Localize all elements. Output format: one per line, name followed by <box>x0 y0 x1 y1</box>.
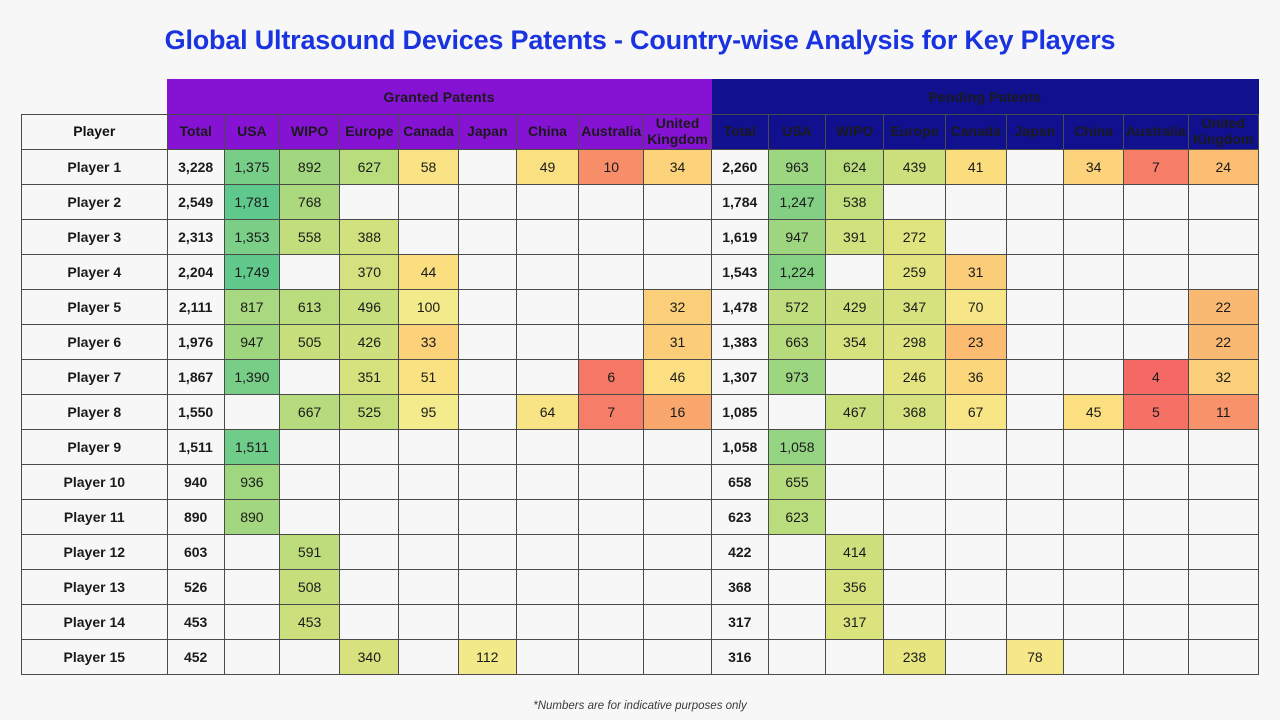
column-header-pending-usa: USA <box>768 115 825 150</box>
cell-pending-europe <box>884 570 945 605</box>
cell-granted-australia: 6 <box>579 360 644 395</box>
cell-granted-canada <box>399 640 458 675</box>
cell-pending-japan <box>1006 570 1063 605</box>
cell-granted-europe <box>340 465 399 500</box>
cell-pending-australia <box>1124 465 1188 500</box>
cell-granted-china <box>516 290 578 325</box>
cell-granted-china <box>516 255 578 290</box>
cell-pending-wipo: 317 <box>826 605 884 640</box>
table-row: Player 10940936658655 <box>22 465 1259 500</box>
cell-granted-australia <box>579 325 644 360</box>
cell-granted-china <box>516 605 578 640</box>
cell-granted-total: 1,976 <box>167 325 224 360</box>
cell-granted-europe: 388 <box>340 220 399 255</box>
cell-granted-japan <box>458 465 516 500</box>
cell-pending-china <box>1064 220 1124 255</box>
row-label-player: Player 3 <box>22 220 168 255</box>
cell-granted-canada <box>399 570 458 605</box>
cell-pending-wipo: 391 <box>826 220 884 255</box>
cell-pending-china <box>1064 640 1124 675</box>
cell-pending-wipo <box>826 500 884 535</box>
cell-granted-usa <box>224 535 279 570</box>
cell-pending-europe: 238 <box>884 640 945 675</box>
cell-granted-canada: 100 <box>399 290 458 325</box>
row-label-player: Player 4 <box>22 255 168 290</box>
cell-pending-usa: 947 <box>768 220 825 255</box>
table-row: Player 1545234011231623878 <box>22 640 1259 675</box>
cell-pending-china <box>1064 465 1124 500</box>
cell-granted-united-kingdom: 32 <box>644 290 711 325</box>
cell-pending-europe: 259 <box>884 255 945 290</box>
cell-granted-united-kingdom <box>644 500 711 535</box>
cell-pending-australia <box>1124 640 1188 675</box>
table-row: Player 22,5491,7817681,7841,247538 <box>22 185 1259 220</box>
cell-pending-japan <box>1006 430 1063 465</box>
cell-granted-total: 2,204 <box>167 255 224 290</box>
cell-granted-canada <box>399 535 458 570</box>
cell-granted-australia <box>579 255 644 290</box>
cell-pending-europe: 439 <box>884 150 945 185</box>
column-header-granted-europe: Europe <box>340 115 399 150</box>
cell-granted-australia <box>579 220 644 255</box>
cell-granted-wipo: 667 <box>279 395 339 430</box>
cell-pending-wipo: 414 <box>826 535 884 570</box>
cell-granted-japan <box>458 395 516 430</box>
cell-pending-total: 422 <box>711 535 768 570</box>
cell-granted-japan <box>458 570 516 605</box>
row-label-player: Player 15 <box>22 640 168 675</box>
cell-granted-australia <box>579 465 644 500</box>
cell-granted-wipo <box>279 465 339 500</box>
cell-granted-usa: 817 <box>224 290 279 325</box>
cell-granted-total: 1,867 <box>167 360 224 395</box>
table-row: Player 11890890623623 <box>22 500 1259 535</box>
cell-pending-canada: 23 <box>945 325 1006 360</box>
cell-granted-china <box>516 640 578 675</box>
cell-pending-japan <box>1006 360 1063 395</box>
cell-pending-china <box>1064 290 1124 325</box>
cell-pending-wipo: 538 <box>826 185 884 220</box>
cell-pending-usa: 1,058 <box>768 430 825 465</box>
cell-pending-australia <box>1124 605 1188 640</box>
cell-granted-australia <box>579 500 644 535</box>
cell-pending-usa <box>768 395 825 430</box>
cell-pending-usa: 973 <box>768 360 825 395</box>
cell-pending-united-kingdom: 32 <box>1188 360 1259 395</box>
row-label-player: Player 10 <box>22 465 168 500</box>
cell-granted-usa: 1,390 <box>224 360 279 395</box>
cell-pending-canada: 41 <box>945 150 1006 185</box>
cell-granted-europe: 627 <box>340 150 399 185</box>
cell-granted-wipo: 613 <box>279 290 339 325</box>
cell-granted-united-kingdom <box>644 430 711 465</box>
cell-pending-china <box>1064 535 1124 570</box>
cell-granted-australia: 10 <box>579 150 644 185</box>
cell-pending-usa: 572 <box>768 290 825 325</box>
row-label-player: Player 2 <box>22 185 168 220</box>
cell-granted-united-kingdom: 46 <box>644 360 711 395</box>
cell-pending-japan <box>1006 395 1063 430</box>
cell-pending-europe <box>884 430 945 465</box>
cell-granted-wipo: 892 <box>279 150 339 185</box>
table-row: Player 13,2281,375892627584910342,260963… <box>22 150 1259 185</box>
patents-table-container: Granted Patents Pending Patents Player T… <box>21 79 1259 675</box>
cell-pending-wipo <box>826 360 884 395</box>
cell-pending-china <box>1064 255 1124 290</box>
cell-pending-canada <box>945 220 1006 255</box>
cell-granted-japan <box>458 325 516 360</box>
cell-granted-usa: 1,353 <box>224 220 279 255</box>
cell-granted-canada <box>399 465 458 500</box>
column-header-pending-china: China <box>1064 115 1124 150</box>
column-header-granted-usa: USA <box>224 115 279 150</box>
cell-pending-australia <box>1124 535 1188 570</box>
cell-pending-united-kingdom <box>1188 605 1259 640</box>
group-header-row: Granted Patents Pending Patents <box>22 80 1259 115</box>
cell-pending-total: 317 <box>711 605 768 640</box>
column-header-granted-united-kingdom: United Kingdom <box>644 115 711 150</box>
cell-pending-wipo: 354 <box>826 325 884 360</box>
table-row: Player 91,5111,5111,0581,058 <box>22 430 1259 465</box>
cell-pending-united-kingdom <box>1188 465 1259 500</box>
cell-pending-china <box>1064 500 1124 535</box>
cell-granted-canada: 58 <box>399 150 458 185</box>
cell-pending-united-kingdom: 22 <box>1188 325 1259 360</box>
cell-granted-australia <box>579 290 644 325</box>
cell-pending-australia <box>1124 185 1188 220</box>
cell-granted-united-kingdom <box>644 255 711 290</box>
cell-granted-europe <box>340 430 399 465</box>
cell-granted-europe: 426 <box>340 325 399 360</box>
cell-granted-total: 2,313 <box>167 220 224 255</box>
cell-granted-wipo: 508 <box>279 570 339 605</box>
cell-pending-australia <box>1124 255 1188 290</box>
table-row: Player 14453453317317 <box>22 605 1259 640</box>
cell-pending-total: 316 <box>711 640 768 675</box>
row-label-player: Player 13 <box>22 570 168 605</box>
cell-granted-wipo: 505 <box>279 325 339 360</box>
cell-granted-china <box>516 465 578 500</box>
cell-pending-europe <box>884 535 945 570</box>
cell-pending-china <box>1064 605 1124 640</box>
cell-pending-total: 623 <box>711 500 768 535</box>
cell-pending-europe <box>884 500 945 535</box>
cell-pending-canada <box>945 465 1006 500</box>
table-row: Player 81,55066752595647161,085467368674… <box>22 395 1259 430</box>
cell-granted-europe <box>340 535 399 570</box>
cell-pending-wipo: 467 <box>826 395 884 430</box>
cell-pending-usa <box>768 605 825 640</box>
column-header-pending-total: Total <box>711 115 768 150</box>
cell-granted-china: 64 <box>516 395 578 430</box>
cell-granted-europe: 370 <box>340 255 399 290</box>
cell-granted-china <box>516 220 578 255</box>
cell-pending-japan <box>1006 535 1063 570</box>
cell-pending-canada <box>945 185 1006 220</box>
cell-pending-china <box>1064 360 1124 395</box>
cell-pending-europe <box>884 605 945 640</box>
cell-pending-japan: 78 <box>1006 640 1063 675</box>
row-label-player: Player 1 <box>22 150 168 185</box>
cell-pending-canada <box>945 605 1006 640</box>
cell-pending-united-kingdom: 22 <box>1188 290 1259 325</box>
slide-root: Global Ultrasound Devices Patents - Coun… <box>0 0 1280 720</box>
cell-granted-canada <box>399 220 458 255</box>
cell-pending-china <box>1064 325 1124 360</box>
cell-pending-total: 1,478 <box>711 290 768 325</box>
cell-granted-china <box>516 325 578 360</box>
cell-pending-australia <box>1124 500 1188 535</box>
cell-pending-canada: 67 <box>945 395 1006 430</box>
cell-granted-japan <box>458 150 516 185</box>
cell-granted-usa <box>224 605 279 640</box>
cell-pending-europe: 347 <box>884 290 945 325</box>
cell-granted-wipo: 558 <box>279 220 339 255</box>
cell-pending-canada: 70 <box>945 290 1006 325</box>
table-row: Player 13526508368356 <box>22 570 1259 605</box>
cell-granted-total: 2,111 <box>167 290 224 325</box>
cell-granted-europe <box>340 500 399 535</box>
row-label-player: Player 6 <box>22 325 168 360</box>
cell-granted-usa: 1,749 <box>224 255 279 290</box>
cell-pending-united-kingdom <box>1188 185 1259 220</box>
column-header-pending-europe: Europe <box>884 115 945 150</box>
cell-granted-usa: 1,511 <box>224 430 279 465</box>
cell-granted-wipo <box>279 640 339 675</box>
cell-pending-australia: 4 <box>1124 360 1188 395</box>
cell-pending-australia <box>1124 290 1188 325</box>
cell-pending-canada <box>945 640 1006 675</box>
group-header-granted: Granted Patents <box>167 80 711 115</box>
cell-granted-australia <box>579 605 644 640</box>
table-row: Player 61,97694750542633311,383663354298… <box>22 325 1259 360</box>
cell-pending-wipo: 624 <box>826 150 884 185</box>
cell-pending-china <box>1064 570 1124 605</box>
cell-pending-japan <box>1006 220 1063 255</box>
cell-granted-wipo <box>279 255 339 290</box>
group-header-spacer <box>22 80 168 115</box>
cell-granted-wipo: 453 <box>279 605 339 640</box>
cell-granted-wipo <box>279 500 339 535</box>
cell-pending-united-kingdom <box>1188 640 1259 675</box>
cell-pending-china: 34 <box>1064 150 1124 185</box>
cell-pending-wipo <box>826 465 884 500</box>
cell-pending-australia <box>1124 430 1188 465</box>
cell-pending-australia <box>1124 220 1188 255</box>
cell-granted-canada <box>399 500 458 535</box>
cell-pending-china <box>1064 185 1124 220</box>
table-row: Player 42,2041,749370441,5431,22425931 <box>22 255 1259 290</box>
cell-granted-usa: 1,375 <box>224 150 279 185</box>
cell-pending-usa <box>768 570 825 605</box>
cell-granted-australia <box>579 430 644 465</box>
column-header-player: Player <box>22 115 168 150</box>
cell-pending-total: 658 <box>711 465 768 500</box>
row-label-player: Player 14 <box>22 605 168 640</box>
cell-granted-united-kingdom <box>644 185 711 220</box>
cell-granted-australia <box>579 570 644 605</box>
column-header-granted-australia: Australia <box>579 115 644 150</box>
cell-granted-total: 3,228 <box>167 150 224 185</box>
cell-granted-europe <box>340 570 399 605</box>
cell-granted-canada <box>399 430 458 465</box>
cell-granted-united-kingdom: 31 <box>644 325 711 360</box>
cell-pending-total: 368 <box>711 570 768 605</box>
cell-granted-wipo <box>279 360 339 395</box>
cell-granted-canada: 44 <box>399 255 458 290</box>
cell-pending-total: 1,543 <box>711 255 768 290</box>
cell-granted-canada: 33 <box>399 325 458 360</box>
cell-granted-australia: 7 <box>579 395 644 430</box>
table-row: Player 12603591422414 <box>22 535 1259 570</box>
cell-granted-total: 526 <box>167 570 224 605</box>
cell-granted-japan <box>458 255 516 290</box>
column-header-pending-japan: Japan <box>1006 115 1063 150</box>
column-header-granted-total: Total <box>167 115 224 150</box>
page-title: Global Ultrasound Devices Patents - Coun… <box>0 0 1280 56</box>
cell-pending-australia: 7 <box>1124 150 1188 185</box>
column-header-granted-canada: Canada <box>399 115 458 150</box>
cell-pending-usa: 623 <box>768 500 825 535</box>
cell-granted-australia <box>579 185 644 220</box>
cell-granted-australia <box>579 535 644 570</box>
row-label-player: Player 5 <box>22 290 168 325</box>
table-row: Player 32,3131,3535583881,619947391272 <box>22 220 1259 255</box>
cell-granted-usa <box>224 570 279 605</box>
cell-granted-united-kingdom <box>644 465 711 500</box>
cell-pending-total: 1,383 <box>711 325 768 360</box>
cell-pending-wipo <box>826 640 884 675</box>
cell-granted-united-kingdom <box>644 220 711 255</box>
cell-pending-usa: 1,247 <box>768 185 825 220</box>
row-label-player: Player 7 <box>22 360 168 395</box>
column-header-pending-united-kingdom: United Kingdom <box>1188 115 1259 150</box>
cell-granted-canada: 51 <box>399 360 458 395</box>
cell-granted-wipo: 591 <box>279 535 339 570</box>
cell-granted-japan <box>458 500 516 535</box>
cell-granted-europe: 340 <box>340 640 399 675</box>
cell-granted-europe <box>340 185 399 220</box>
cell-pending-china <box>1064 430 1124 465</box>
cell-granted-united-kingdom: 16 <box>644 395 711 430</box>
cell-granted-united-kingdom: 34 <box>644 150 711 185</box>
table-body: Player 13,2281,375892627584910342,260963… <box>22 150 1259 675</box>
cell-granted-total: 2,549 <box>167 185 224 220</box>
cell-pending-europe <box>884 465 945 500</box>
cell-granted-wipo <box>279 430 339 465</box>
cell-granted-usa <box>224 395 279 430</box>
cell-pending-china: 45 <box>1064 395 1124 430</box>
cell-pending-japan <box>1006 290 1063 325</box>
cell-pending-total: 2,260 <box>711 150 768 185</box>
cell-granted-china <box>516 500 578 535</box>
cell-granted-total: 603 <box>167 535 224 570</box>
footnote: *Numbers are for indicative purposes onl… <box>0 700 1280 712</box>
cell-pending-canada: 31 <box>945 255 1006 290</box>
cell-pending-canada <box>945 430 1006 465</box>
cell-pending-wipo: 429 <box>826 290 884 325</box>
patents-table: Granted Patents Pending Patents Player T… <box>21 79 1259 675</box>
row-label-player: Player 9 <box>22 430 168 465</box>
cell-granted-usa: 936 <box>224 465 279 500</box>
cell-pending-united-kingdom <box>1188 255 1259 290</box>
cell-pending-united-kingdom <box>1188 535 1259 570</box>
cell-pending-japan <box>1006 150 1063 185</box>
cell-pending-usa: 963 <box>768 150 825 185</box>
cell-granted-japan <box>458 535 516 570</box>
cell-pending-united-kingdom <box>1188 500 1259 535</box>
table-row: Player 52,111817613496100321,47857242934… <box>22 290 1259 325</box>
cell-pending-japan <box>1006 185 1063 220</box>
cell-pending-canada <box>945 570 1006 605</box>
cell-granted-japan <box>458 220 516 255</box>
cell-granted-usa: 890 <box>224 500 279 535</box>
cell-granted-japan <box>458 360 516 395</box>
cell-granted-europe: 496 <box>340 290 399 325</box>
cell-pending-australia: 5 <box>1124 395 1188 430</box>
cell-granted-china <box>516 570 578 605</box>
cell-granted-united-kingdom <box>644 640 711 675</box>
cell-granted-usa: 947 <box>224 325 279 360</box>
cell-pending-wipo <box>826 430 884 465</box>
cell-granted-total: 890 <box>167 500 224 535</box>
cell-pending-australia <box>1124 325 1188 360</box>
table-row: Player 71,8671,390351516461,307973246364… <box>22 360 1259 395</box>
cell-pending-united-kingdom: 24 <box>1188 150 1259 185</box>
cell-pending-australia <box>1124 570 1188 605</box>
column-header-row: Player TotalUSAWIPOEuropeCanadaJapanChin… <box>22 115 1259 150</box>
cell-pending-canada: 36 <box>945 360 1006 395</box>
cell-granted-europe <box>340 605 399 640</box>
cell-pending-usa <box>768 535 825 570</box>
cell-granted-united-kingdom <box>644 570 711 605</box>
cell-granted-total: 452 <box>167 640 224 675</box>
cell-granted-total: 1,550 <box>167 395 224 430</box>
row-label-player: Player 11 <box>22 500 168 535</box>
cell-granted-china <box>516 360 578 395</box>
cell-granted-japan <box>458 185 516 220</box>
cell-granted-canada: 95 <box>399 395 458 430</box>
cell-granted-japan <box>458 290 516 325</box>
cell-granted-japan <box>458 430 516 465</box>
cell-pending-united-kingdom <box>1188 220 1259 255</box>
cell-granted-united-kingdom <box>644 535 711 570</box>
cell-pending-united-kingdom: 11 <box>1188 395 1259 430</box>
cell-granted-australia <box>579 640 644 675</box>
cell-pending-japan <box>1006 500 1063 535</box>
cell-granted-canada <box>399 185 458 220</box>
cell-granted-japan: 112 <box>458 640 516 675</box>
cell-granted-total: 453 <box>167 605 224 640</box>
cell-pending-total: 1,307 <box>711 360 768 395</box>
cell-granted-usa <box>224 640 279 675</box>
cell-granted-usa: 1,781 <box>224 185 279 220</box>
cell-pending-total: 1,058 <box>711 430 768 465</box>
cell-granted-china <box>516 185 578 220</box>
cell-granted-china <box>516 535 578 570</box>
cell-pending-canada <box>945 500 1006 535</box>
cell-granted-europe: 351 <box>340 360 399 395</box>
cell-granted-total: 1,511 <box>167 430 224 465</box>
cell-granted-europe: 525 <box>340 395 399 430</box>
column-header-granted-japan: Japan <box>458 115 516 150</box>
cell-pending-wipo <box>826 255 884 290</box>
cell-pending-europe: 246 <box>884 360 945 395</box>
cell-pending-united-kingdom <box>1188 430 1259 465</box>
cell-pending-usa <box>768 640 825 675</box>
cell-pending-usa: 655 <box>768 465 825 500</box>
cell-pending-wipo: 356 <box>826 570 884 605</box>
